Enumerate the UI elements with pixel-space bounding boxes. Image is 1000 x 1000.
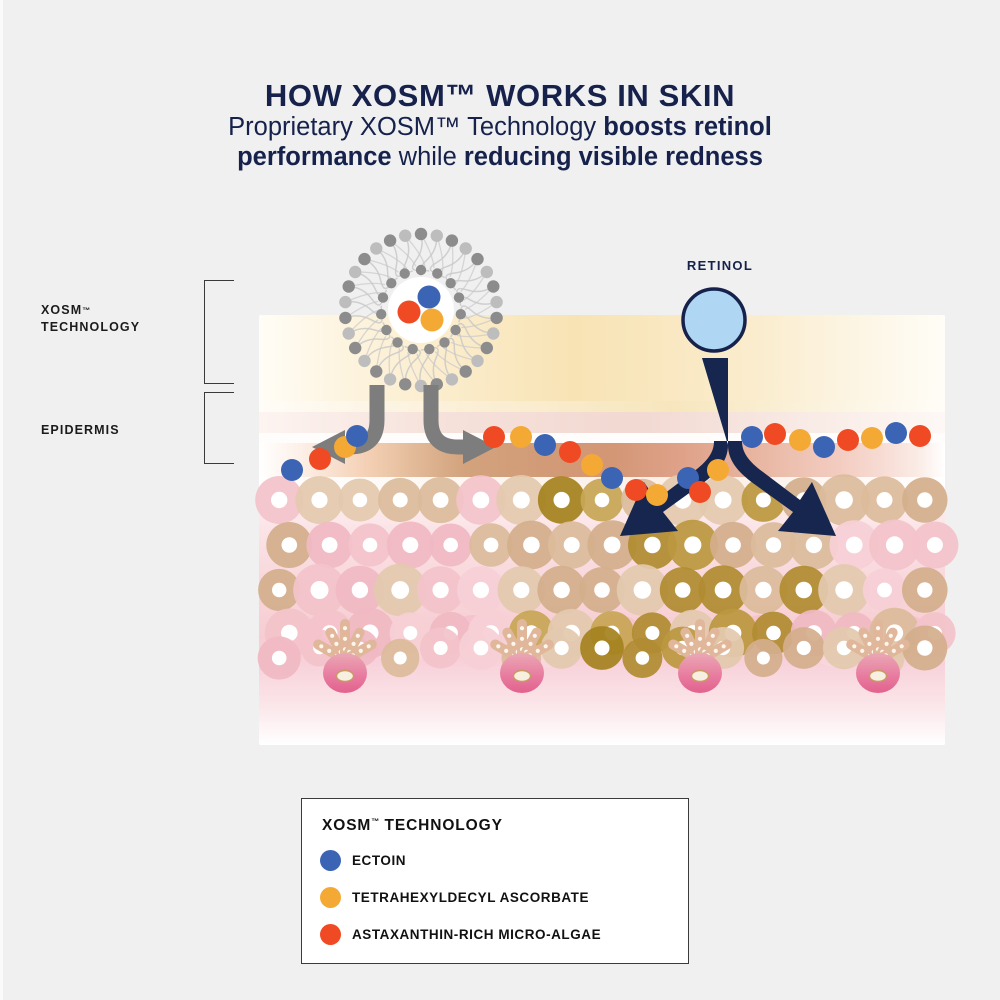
micelle-inner-head — [456, 309, 466, 319]
micelle-head — [487, 280, 499, 292]
legend-item-ectoin[interactable]: ECTOIN — [320, 850, 406, 871]
micelle-inner-head — [454, 292, 464, 302]
micelle-head — [384, 234, 396, 246]
micelle-head — [471, 355, 483, 367]
micelle-inner-head — [386, 278, 396, 288]
legend-label-ascorbate: TETRAHEXYLDECYL ASCORBATE — [352, 890, 589, 905]
bracket-epidermis — [204, 392, 234, 464]
micelle-inner-head — [392, 337, 402, 347]
micelle-molecule-ectoin — [418, 286, 441, 309]
micelle-head — [370, 242, 382, 254]
micelle-head — [481, 342, 493, 354]
infographic-root: HOW XOSM™ WORKS IN SKIN Proprietary XOSM… — [0, 0, 1000, 1000]
micelle-head — [446, 234, 458, 246]
micelle-head — [415, 228, 427, 240]
micelle-molecule-astaxanthin — [398, 301, 421, 324]
micelle-head — [487, 327, 499, 339]
page-title: HOW XOSM™ WORKS IN SKIN — [0, 78, 1000, 114]
micelle-head — [343, 280, 355, 292]
legend-item-astaxanthin[interactable]: ASTAXANTHIN-RICH MICRO-ALGAE — [320, 924, 601, 945]
micelle-molecule-ascorbate — [421, 309, 444, 332]
legend-title: XOSM™ TECHNOLOGY — [322, 817, 503, 835]
axis-label-technology-text: TECHNOLOGY — [41, 320, 140, 334]
legend-label-ectoin: ECTOIN — [352, 853, 406, 868]
micelle-inner-head — [450, 325, 460, 335]
micelle-head — [415, 380, 427, 392]
micelle-head — [384, 373, 396, 385]
micelle-inner-head — [432, 268, 442, 278]
micelle-head — [490, 296, 502, 308]
micelle-illustration — [333, 222, 509, 398]
micelle-head — [399, 230, 411, 242]
micelle-inner-head — [424, 344, 434, 354]
trademark-symbol: ™ — [82, 306, 90, 315]
micelle-inner-head — [376, 309, 386, 319]
micelle-head — [358, 355, 370, 367]
micelle-head — [431, 378, 443, 390]
bracket-xosm-technology — [204, 280, 234, 384]
micelle-head — [471, 253, 483, 265]
legend-swatch-astaxanthin — [320, 924, 341, 945]
micelle-inner-head — [416, 265, 426, 275]
axis-label-xosm-text: XOSM — [41, 303, 82, 317]
micelle-head — [446, 373, 458, 385]
subtitle-part-2: while — [399, 143, 464, 171]
micelle-inner-head — [439, 337, 449, 347]
legend-box: XOSM™ TECHNOLOGY ECTOIN TETRAHEXYLDECYL … — [301, 798, 689, 964]
subtitle-part-3: reducing visible redness — [464, 143, 763, 171]
subtitle-part-0: Proprietary XOSM™ Technology — [228, 113, 603, 141]
micelle-head — [343, 327, 355, 339]
axis-label-epidermis: EPIDERMIS — [41, 422, 120, 439]
micelle-head — [399, 378, 411, 390]
legend-swatch-ectoin — [320, 850, 341, 871]
micelle-head — [460, 242, 472, 254]
micelle-head — [460, 365, 472, 377]
micelle-head — [339, 296, 351, 308]
micelle-head — [339, 312, 351, 324]
page-subtitle: Proprietary XOSM™ Technology boosts reti… — [150, 112, 850, 172]
layer-redness-overlay — [259, 443, 945, 479]
legend-item-ascorbate[interactable]: TETRAHEXYLDECYL ASCORBATE — [320, 887, 589, 908]
micelle-inner-head — [400, 268, 410, 278]
micelle-head — [370, 365, 382, 377]
micelle-head — [358, 253, 370, 265]
layer-epidermis-upper — [259, 412, 945, 434]
micelle-head — [349, 342, 361, 354]
legend-title-rest: TECHNOLOGY — [379, 817, 503, 834]
micelle-inner-head — [378, 292, 388, 302]
micelle-head — [481, 266, 493, 278]
micelle-head — [431, 230, 443, 242]
micelle-inner-head — [446, 278, 456, 288]
legend-title-main: XOSM — [322, 817, 371, 834]
axis-label-xosm-technology: XOSM™ TECHNOLOGY — [41, 302, 140, 336]
legend-label-astaxanthin: ASTAXANTHIN-RICH MICRO-ALGAE — [352, 927, 601, 942]
micelle-inner-head — [381, 325, 391, 335]
legend-swatch-ascorbate — [320, 887, 341, 908]
micelle-head — [490, 312, 502, 324]
layer-dermis — [259, 490, 945, 745]
micelle-inner-head — [408, 344, 418, 354]
retinol-label: RETINOL — [640, 258, 800, 273]
micelle-head — [349, 266, 361, 278]
